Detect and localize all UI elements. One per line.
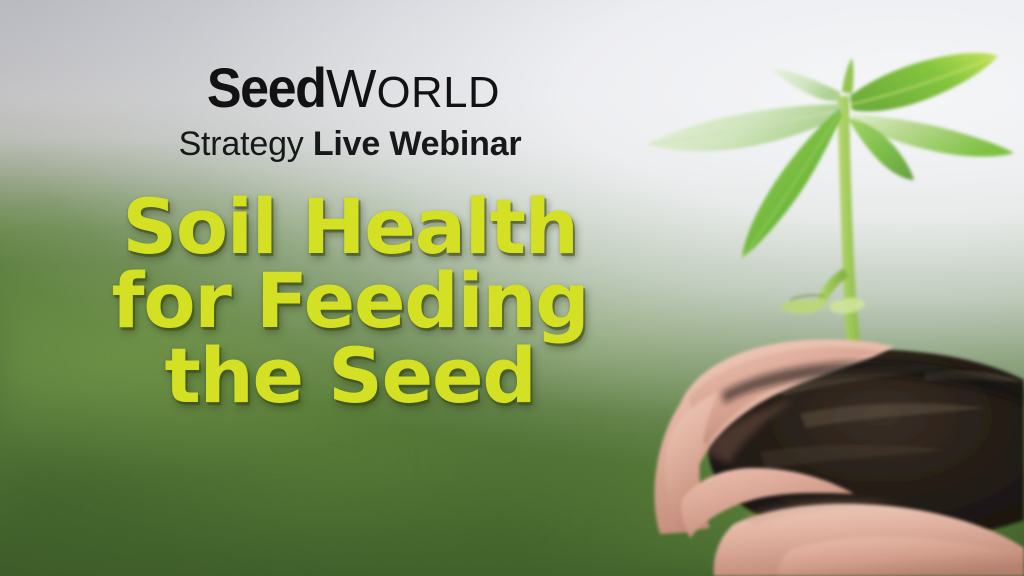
headline-line-3: the Seed: [0, 340, 700, 413]
logo-subtitle: Strategy Live Webinar: [179, 127, 522, 161]
subtitle-live-webinar: Live Webinar: [313, 125, 522, 163]
headline-line-1: Soil Health: [0, 191, 700, 264]
seed-world-wordmark: SeedWORLD: [179, 62, 522, 115]
soil-clump: [707, 349, 1024, 542]
background-gradient: [0, 0, 1024, 576]
soil-shadow: [722, 361, 1024, 404]
headline-line-2: for Feeding: [0, 265, 700, 338]
background-bokeh-blur: [0, 0, 1024, 576]
background-studio-haze: [0, 0, 1024, 576]
cupped-hands: [654, 339, 1024, 576]
wordmark-world-cap: W: [326, 59, 377, 119]
headline: Soil Health for Feeding the Seed: [0, 191, 700, 413]
wordmark-seed: Seed: [207, 62, 326, 115]
seedling-photo: [594, 0, 1024, 576]
background-vignette: [0, 0, 1024, 576]
wordmark-world-rest: ORLD: [376, 68, 499, 117]
seedling-plant: [648, 53, 1014, 404]
subtitle-strategy: Strategy: [179, 125, 304, 163]
webinar-promo-banner: SeedWORLD Strategy Live Webinar Soil Hea…: [0, 0, 1024, 576]
seed-world-logo: SeedWORLD Strategy Live Webinar: [179, 62, 522, 161]
wordmark-world: WORLD: [326, 64, 500, 115]
banner-content: SeedWORLD Strategy Live Webinar Soil Hea…: [0, 0, 700, 576]
